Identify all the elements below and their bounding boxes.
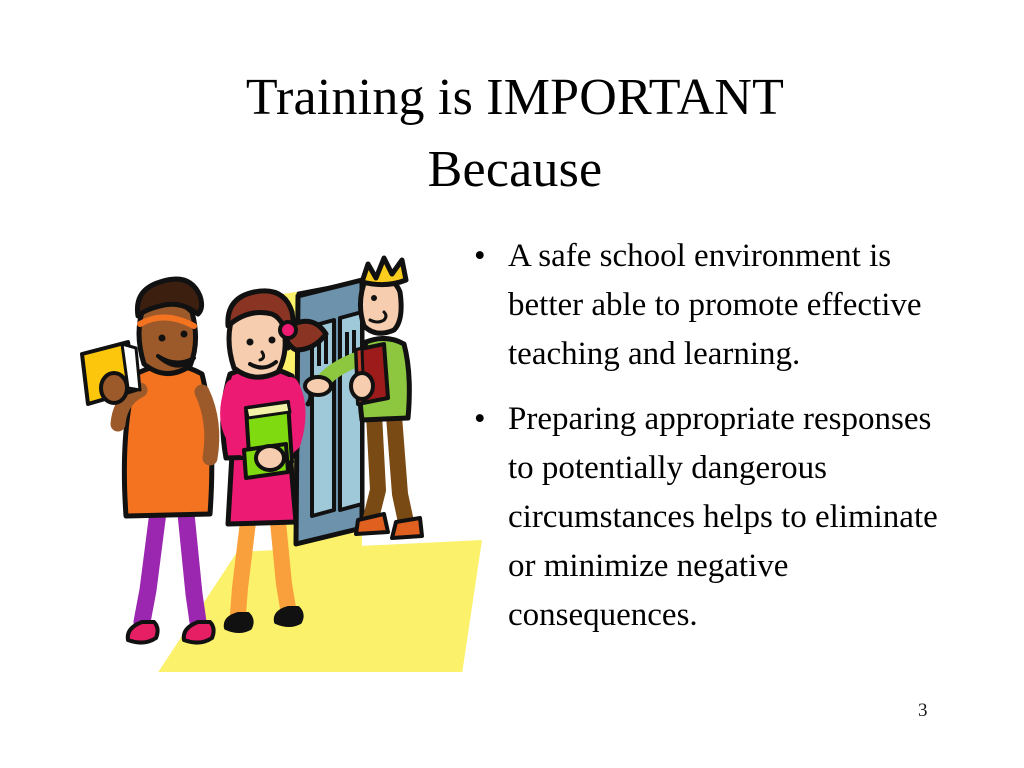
list-item: • A safe school environment is better ab…: [468, 232, 948, 379]
student-orange-shirt: [82, 279, 214, 643]
bullet-marker-icon: •: [474, 395, 486, 444]
title-line-2: Because: [90, 134, 940, 206]
page-title: Training is IMPORTANT Because: [90, 62, 940, 206]
locker-door-1: [312, 320, 334, 516]
hair-tie: [280, 322, 296, 338]
list-item: • Preparing appropriate responses to pot…: [468, 395, 948, 640]
bullet-text: Preparing appropriate responses to poten…: [508, 395, 948, 640]
slide-canvas: Training is IMPORTANT Because: [0, 0, 1024, 768]
title-line-1: Training is IMPORTANT: [90, 62, 940, 134]
students-lockers-illustration: [62, 222, 482, 672]
bullet-marker-icon: •: [474, 232, 486, 281]
page-number: 3: [918, 700, 928, 722]
bullet-text: A safe school environment is better able…: [508, 232, 948, 379]
bullet-list: • A safe school environment is better ab…: [468, 232, 948, 656]
